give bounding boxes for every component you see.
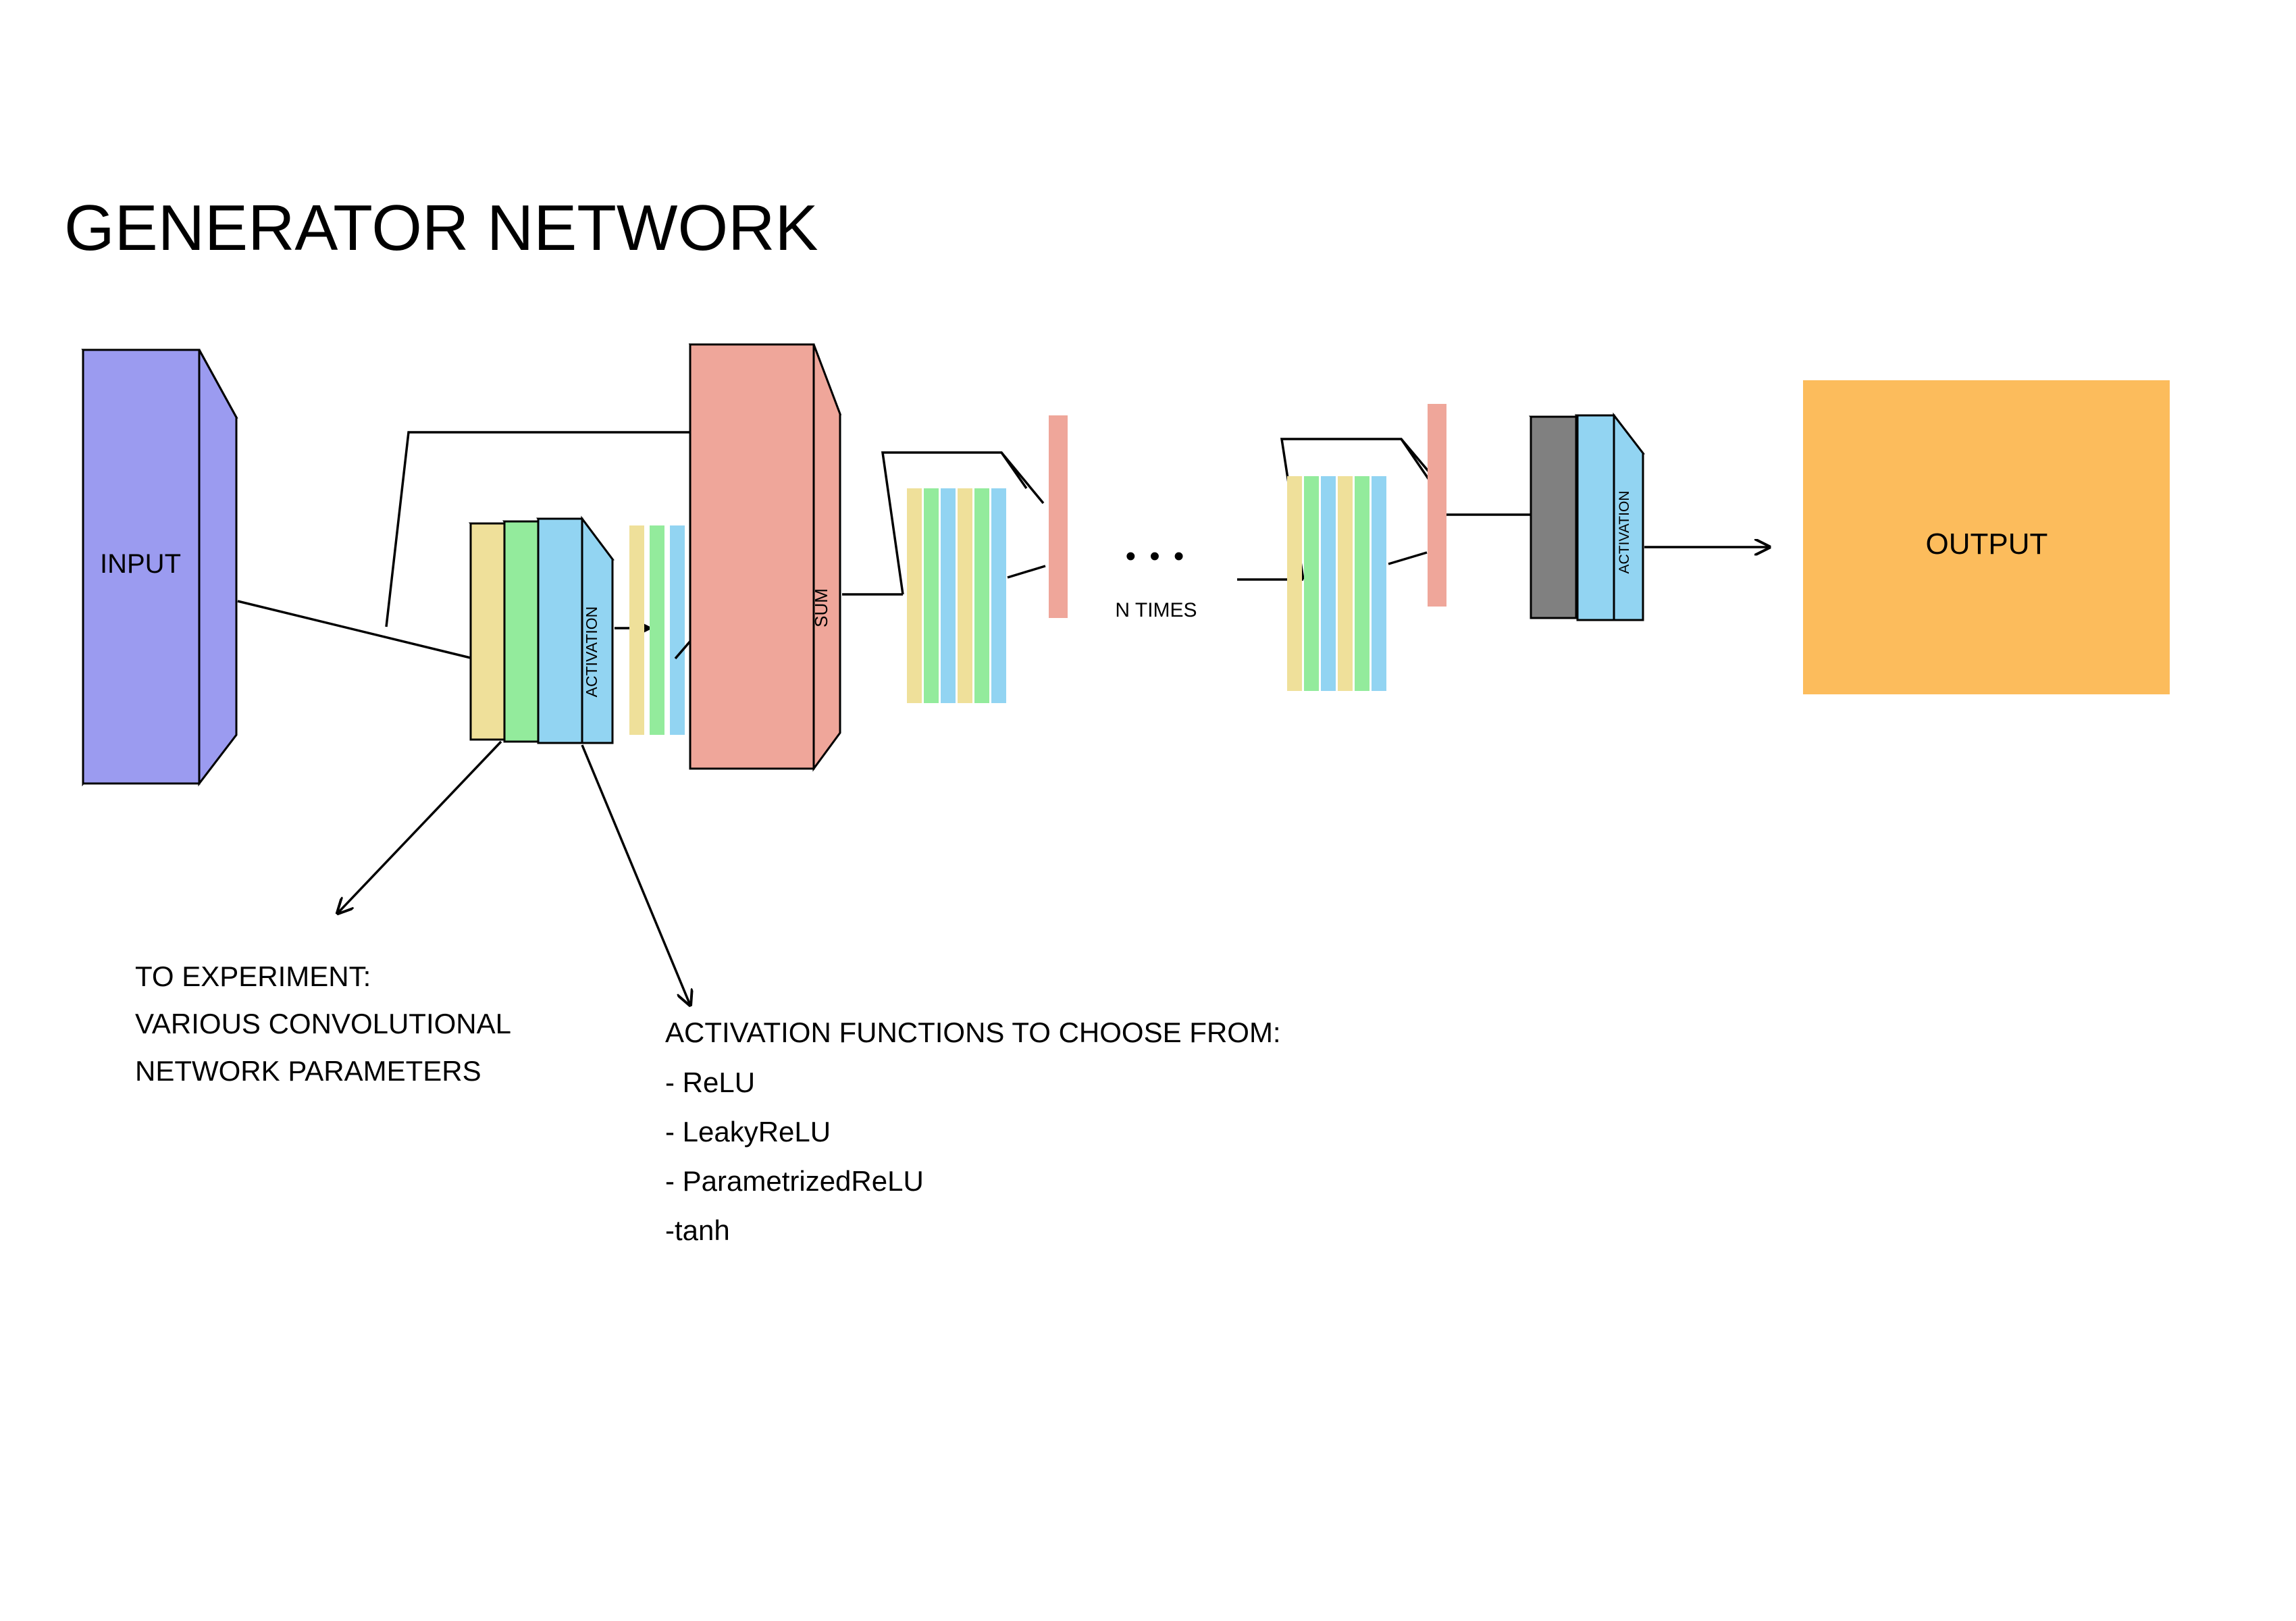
activation-functions-callout-arrow <box>582 745 690 1005</box>
feature-bars-group-1 <box>629 525 685 735</box>
sum-side-face <box>814 344 840 769</box>
feature-bar <box>991 488 1006 703</box>
activation-function-item: - ReLU <box>665 1066 755 1098</box>
skip-connection-arrow-2 <box>1001 453 1043 503</box>
input-right <box>199 350 236 783</box>
experiment-callout-arrow <box>338 742 501 913</box>
feature-bar <box>924 488 939 703</box>
feature-bars-group-3 <box>1287 476 1386 691</box>
feature-bar <box>650 525 664 735</box>
sum-block: SUM <box>690 344 840 769</box>
experiment-line-2: VARIOUS CONVOLUTIONAL <box>135 1008 511 1039</box>
experiment-line-3: NETWORK PARAMETERS <box>135 1055 481 1087</box>
activation-front-face <box>538 519 582 743</box>
feature-bar <box>629 525 644 735</box>
experiment-line-1: TO EXPERIMENT: <box>135 960 371 992</box>
feature-bar <box>974 488 989 703</box>
final-activation-label: ACTIVATION <box>1617 491 1632 574</box>
feature-bar <box>1372 476 1386 691</box>
feature-bar <box>1287 476 1302 691</box>
repeat-ellipsis: • • • <box>1126 540 1187 573</box>
feature-bar <box>1338 476 1353 691</box>
n-times-label: N TIMES <box>1115 599 1197 621</box>
feature-bar <box>941 488 956 703</box>
batchnorm-front-face <box>504 521 538 742</box>
feature-bar <box>1304 476 1319 691</box>
final-activation-block: ACTIVATION <box>1577 415 1643 620</box>
feature-bar <box>907 488 922 703</box>
activation-block: ACTIVATION <box>538 519 612 743</box>
activation-functions-heading: ACTIVATION FUNCTIONS TO CHOOSE FROM: <box>665 1017 1281 1048</box>
diagram-canvas: GENERATOR NETWORK INPUT INPUT <box>0 0 2296 1621</box>
generator-network-diagram: GENERATOR NETWORK INPUT INPUT <box>0 0 2296 1621</box>
final-activation-front-face <box>1577 415 1614 620</box>
activation-function-item: -tanh <box>665 1214 730 1246</box>
page-title: GENERATOR NETWORK <box>64 192 818 264</box>
sum-front-face <box>690 344 814 769</box>
bars3-to-residual-line <box>1388 552 1427 564</box>
residual-bar-2 <box>1428 404 1446 607</box>
input-to-conv-arrow <box>238 601 501 665</box>
feature-bar <box>1321 476 1336 691</box>
experiment-annotation: TO EXPERIMENT: VARIOUS CONVOLUTIONAL NET… <box>135 960 511 1087</box>
subpixel-front-face <box>1531 417 1576 618</box>
input-face-label: INPUT <box>100 549 181 579</box>
activation-function-item: - LeakyReLU <box>665 1116 831 1148</box>
activation-label: ACTIVATION <box>583 607 600 698</box>
sum-label: SUM <box>811 588 831 627</box>
activation-functions-annotation: ACTIVATION FUNCTIONS TO CHOOSE FROM: - R… <box>665 1017 1281 1246</box>
input-block-faces: INPUT <box>83 350 236 783</box>
feature-bar <box>670 525 685 735</box>
output-label: OUTPUT <box>1926 528 2048 561</box>
bars2-to-residual-line <box>1008 566 1045 577</box>
residual-bar-1 <box>1049 415 1068 618</box>
activation-function-item: - ParametrizedReLU <box>665 1165 924 1197</box>
feature-bar <box>1355 476 1369 691</box>
feature-bars-group-2 <box>907 488 1006 703</box>
feature-bar <box>958 488 972 703</box>
